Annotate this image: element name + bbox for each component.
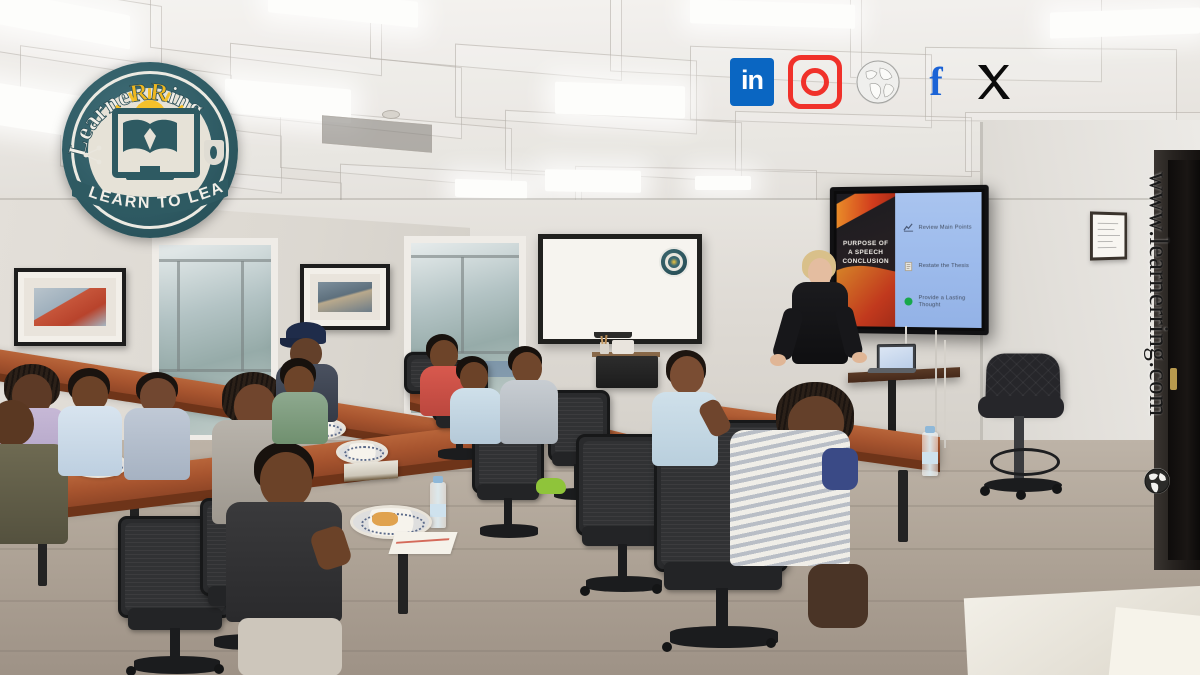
linkedin-label: in bbox=[741, 67, 763, 94]
chair-caster bbox=[126, 666, 136, 675]
drafting-stool[interactable] bbox=[972, 352, 1092, 522]
x-glyph bbox=[974, 62, 1014, 102]
stool-caster bbox=[1052, 484, 1062, 494]
website-url-vertical: www.learnerring.com bbox=[1143, 172, 1174, 417]
x-twitter-icon[interactable] bbox=[972, 60, 1016, 104]
whiteboard bbox=[538, 234, 702, 344]
student bbox=[850, 344, 920, 440]
napkin bbox=[388, 532, 457, 554]
svg-text:LEARN TO LEAD: LEARN TO LEAD bbox=[70, 172, 227, 212]
ceiling-tile bbox=[735, 111, 972, 177]
aircraft-photo bbox=[318, 282, 372, 312]
water-bottle bbox=[922, 432, 938, 476]
window-mullion bbox=[159, 259, 271, 262]
sun-ray bbox=[148, 88, 151, 99]
ceiling-light-panel bbox=[1050, 7, 1200, 38]
helicopter-photo-frame bbox=[14, 268, 126, 346]
slide-body-panel: Review Main Points Restate the Thesis Pr… bbox=[895, 192, 982, 328]
instagram-lens bbox=[801, 68, 829, 96]
student-leg bbox=[808, 564, 868, 628]
whiteboard-logo-inner bbox=[665, 253, 683, 271]
slide-bullet-label: Review Main Points bbox=[919, 224, 972, 231]
network-node-icon bbox=[82, 144, 104, 166]
window-mullion bbox=[241, 261, 244, 371]
certificate-line bbox=[1098, 229, 1115, 230]
supply-cabinet[interactable] bbox=[596, 356, 658, 388]
learnerring-logo: LearneRRing bbox=[62, 62, 238, 238]
slide-bullet-label: Provide a Lasting Thought bbox=[919, 295, 978, 309]
chart-line-icon bbox=[903, 222, 914, 233]
instagram-icon[interactable] bbox=[788, 55, 842, 109]
stool-footring bbox=[990, 448, 1060, 476]
student-shirt bbox=[272, 392, 328, 444]
student-shirt bbox=[124, 408, 190, 480]
certificate-line bbox=[1098, 247, 1117, 248]
open-book-icon bbox=[118, 114, 182, 160]
slide-accent-shape bbox=[837, 193, 895, 229]
water-bottle bbox=[430, 482, 446, 528]
frame-mat bbox=[310, 274, 380, 320]
chair-caster bbox=[214, 664, 224, 674]
student-shirt bbox=[500, 380, 558, 444]
linkedin-icon[interactable]: in bbox=[730, 58, 774, 106]
classroom-photo-scene: PURPOSE OF A SPEECH CONCLUSION Review Ma… bbox=[0, 0, 1200, 675]
document-icon bbox=[903, 261, 914, 272]
logo-tagline-banner: LEARN TO LEAD bbox=[70, 172, 230, 226]
student-shirt bbox=[58, 406, 122, 476]
student bbox=[58, 368, 132, 478]
ceiling-light-panel bbox=[455, 179, 527, 200]
whiteboard-logo bbox=[659, 247, 689, 277]
certificate-line bbox=[1098, 235, 1120, 236]
certificate-line bbox=[1098, 223, 1118, 224]
ceiling-light-panel bbox=[555, 82, 685, 119]
student-head bbox=[260, 452, 312, 508]
url-globe-icon bbox=[1144, 468, 1170, 494]
student bbox=[124, 372, 202, 482]
stool-caster bbox=[1016, 490, 1026, 500]
chair-base bbox=[134, 656, 220, 674]
logo-tagline: LEARN TO LEAD bbox=[70, 172, 227, 212]
snack-food bbox=[372, 512, 398, 526]
helicopter-photo bbox=[34, 288, 106, 326]
bottle-label bbox=[430, 504, 446, 517]
frame-mat bbox=[24, 278, 116, 336]
whiteboard-logo-core bbox=[668, 256, 680, 268]
drop-cloth-fold bbox=[1109, 607, 1200, 675]
student bbox=[272, 358, 336, 442]
tissue-box bbox=[612, 340, 634, 354]
chair-seat bbox=[582, 526, 664, 546]
globe-small-glyph bbox=[1144, 468, 1170, 494]
stool-seat bbox=[978, 396, 1064, 418]
chair-base bbox=[586, 576, 662, 592]
ceiling-light-panel bbox=[695, 176, 751, 190]
student bbox=[500, 346, 564, 446]
stool-caster bbox=[980, 486, 990, 496]
chair-caster bbox=[580, 586, 590, 596]
social-icons-bar: in f bbox=[730, 55, 1016, 109]
student-head bbox=[0, 400, 34, 446]
chair-caster bbox=[662, 642, 672, 652]
framed-certificate bbox=[1090, 211, 1127, 260]
student-head bbox=[670, 356, 704, 394]
globe-continents bbox=[856, 60, 900, 104]
facebook-icon[interactable]: f bbox=[914, 60, 958, 104]
smoke-detector-icon bbox=[382, 110, 400, 119]
presenter-hand-left bbox=[770, 354, 786, 366]
green-dot-icon bbox=[903, 296, 914, 307]
table-leg bbox=[898, 470, 908, 542]
shield-keyhole bbox=[210, 146, 217, 159]
power-cable bbox=[944, 340, 946, 448]
facebook-label: f bbox=[929, 63, 942, 101]
chair-base bbox=[670, 626, 778, 648]
student-shorts bbox=[238, 618, 342, 675]
ceiling-light-panel bbox=[545, 169, 641, 193]
certificate-line bbox=[1098, 241, 1113, 242]
student bbox=[730, 382, 870, 592]
slide-bullet-label: Restate the Thesis bbox=[919, 263, 969, 270]
chair-base bbox=[480, 524, 538, 538]
napkin-stripe bbox=[396, 538, 450, 544]
bottle-cap bbox=[925, 426, 935, 433]
bottle-label bbox=[922, 452, 938, 464]
shield-icon bbox=[204, 140, 224, 165]
window-mullion bbox=[411, 255, 519, 258]
student bbox=[650, 350, 736, 480]
student-shirt bbox=[450, 388, 502, 444]
student-sleeve bbox=[822, 448, 858, 490]
chair-caster bbox=[766, 638, 776, 648]
window-mullion bbox=[177, 261, 180, 371]
sneaker bbox=[536, 478, 566, 494]
student bbox=[226, 442, 366, 672]
aircraft-photo-frame bbox=[300, 264, 390, 330]
website-globe-icon[interactable] bbox=[856, 60, 900, 104]
